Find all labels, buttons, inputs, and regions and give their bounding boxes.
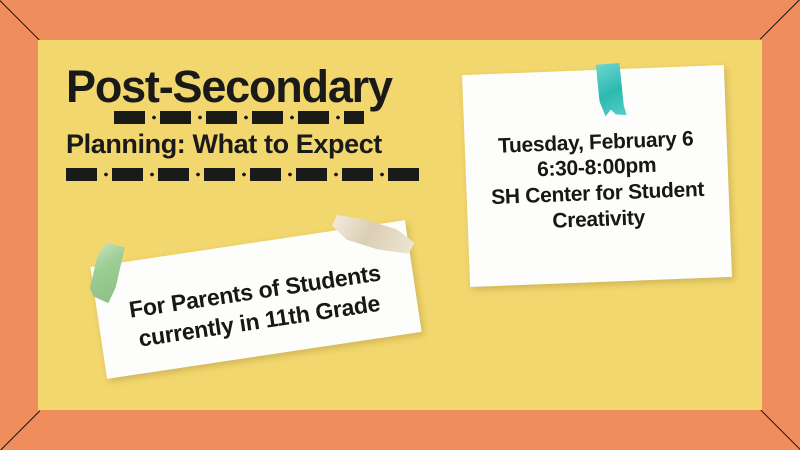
page-title: Post-Secondary <box>66 64 446 109</box>
corner-accent-line-bottom-left <box>0 410 40 450</box>
headline-block: Post-Secondary Planning: What to Expect <box>66 64 446 181</box>
audience-text: For Parents of Students currently in 11t… <box>121 257 393 355</box>
corner-accent-line-bottom-right <box>760 410 800 450</box>
event-flyer: Post-Secondary Planning: What to Expect … <box>0 0 800 450</box>
sticky-note-event-details: Tuesday, February 6 6:30-8:00pm SH Cente… <box>462 65 732 287</box>
title-divider-lower <box>66 168 426 181</box>
corner-accent-line-top-right <box>760 0 800 40</box>
corner-accent-line-top-left <box>0 0 40 40</box>
page-subtitle: Planning: What to Expect <box>66 130 446 158</box>
title-divider-upper <box>114 111 364 124</box>
event-details-text: Tuesday, February 6 6:30-8:00pm SH Cente… <box>464 125 730 237</box>
